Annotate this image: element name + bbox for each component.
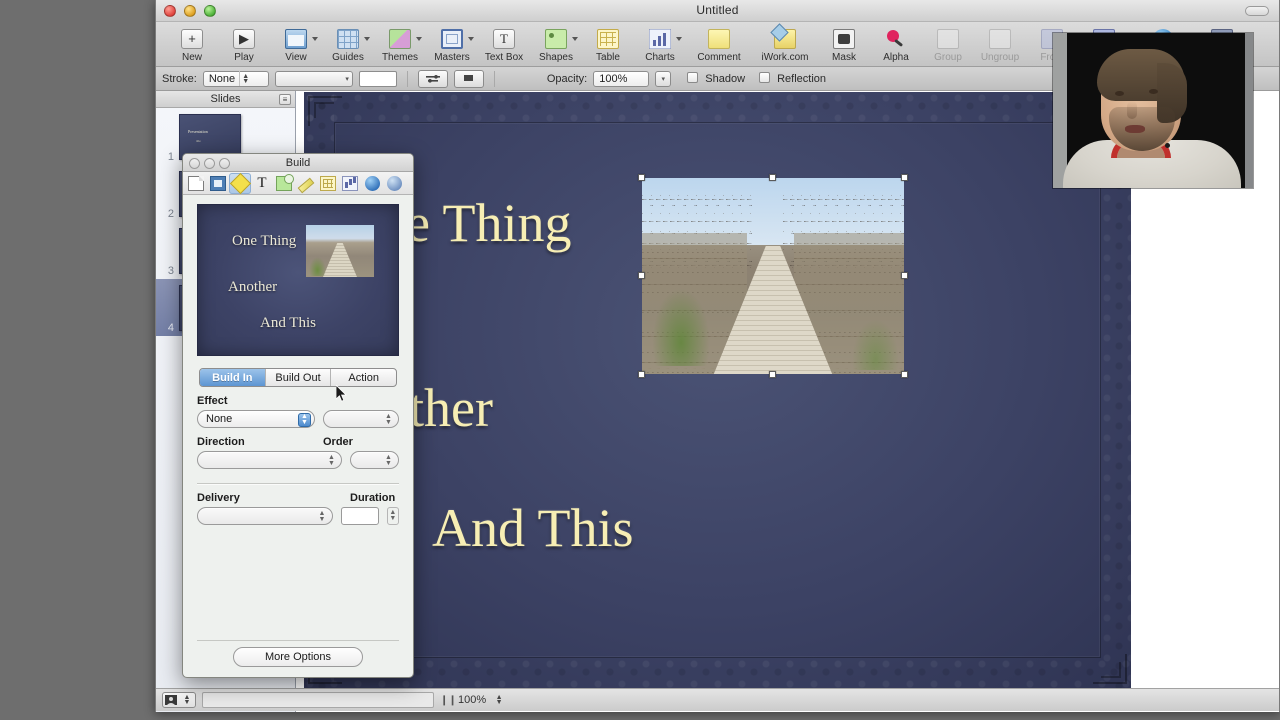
resize-handle-nw[interactable] bbox=[638, 174, 645, 181]
build-tab-group[interactable]: Build In Build Out Action bbox=[199, 368, 397, 387]
checkbox-icon bbox=[687, 72, 698, 83]
document-inspector-icon[interactable] bbox=[185, 173, 207, 194]
status-bar: ▲▼ ❙❙ 100% ▲▼ bbox=[156, 688, 1279, 711]
webcam-wall-left bbox=[1053, 33, 1067, 188]
metrics-inspector-icon[interactable] bbox=[295, 173, 317, 194]
build-inspector-window[interactable]: Build T One Thing Another And This Build… bbox=[182, 153, 414, 678]
stroke-label: Stroke: bbox=[162, 73, 197, 85]
toolbar-button-mask[interactable]: Mask bbox=[818, 24, 870, 63]
slides-pane-title: Slides bbox=[211, 93, 241, 105]
play-icon: ▶ bbox=[233, 26, 255, 51]
zoom-control[interactable]: 100% ▲▼ bbox=[458, 693, 505, 708]
reflection-label: Reflection bbox=[777, 73, 826, 85]
group-icon bbox=[937, 26, 959, 51]
toolbar-label: Ungroup bbox=[981, 52, 1019, 63]
toolbar-label: Text Box bbox=[485, 52, 523, 63]
presenter-view-icon[interactable]: ▲▼ bbox=[162, 692, 196, 708]
toolbar-button-play[interactable]: ▶ Play bbox=[218, 24, 270, 63]
toolbar-button-ungroup: Ungroup bbox=[974, 24, 1026, 63]
build-preview-line-2: Another bbox=[228, 279, 277, 296]
webcam-lapel-mic bbox=[1165, 143, 1170, 148]
webcam-eye-right bbox=[1149, 89, 1158, 94]
fullscreen-toggle-icon[interactable] bbox=[1245, 6, 1269, 16]
resize-handle-ne[interactable] bbox=[901, 174, 908, 181]
toolbar-label: Table bbox=[596, 52, 620, 63]
toolbar-button-shapes[interactable]: Shapes bbox=[530, 24, 582, 63]
shapes-icon bbox=[545, 26, 567, 51]
slide-number: 1 bbox=[160, 151, 174, 163]
resize-handle-se[interactable] bbox=[901, 371, 908, 378]
toolbar-button-view[interactable]: View bbox=[270, 24, 322, 63]
toolbar-label: Mask bbox=[832, 52, 856, 63]
ungroup-icon bbox=[989, 26, 1011, 51]
duration-input[interactable] bbox=[341, 507, 379, 525]
pause-icon[interactable]: ❙❙ bbox=[440, 695, 452, 706]
toolbar-button-alpha[interactable]: Alpha bbox=[870, 24, 922, 63]
stepper-icon[interactable]: ▲▼ bbox=[316, 510, 329, 524]
toolbar-button-comment[interactable]: Comment bbox=[686, 24, 752, 63]
duration-label: Duration bbox=[350, 492, 395, 504]
toolbar-label: New bbox=[182, 52, 202, 63]
build-preview-line-3: And This bbox=[260, 315, 316, 332]
slide-border-ornament-top bbox=[304, 92, 1131, 122]
window-title: Untitled bbox=[156, 3, 1279, 17]
alpha-icon bbox=[885, 26, 907, 51]
opacity-input[interactable]: 100% bbox=[593, 71, 649, 87]
stepper-icon[interactable]: ▲▼ bbox=[382, 413, 395, 427]
photo-greenery-right bbox=[852, 319, 899, 370]
text-inspector-icon[interactable]: T bbox=[251, 173, 273, 194]
divider bbox=[407, 71, 408, 87]
toolbar-button-iwork-com[interactable]: iWork.com bbox=[752, 24, 818, 63]
toolbar-button-masters[interactable]: Masters bbox=[426, 24, 478, 63]
toolbar-label: Play bbox=[234, 52, 253, 63]
boardwalk-photo[interactable] bbox=[642, 178, 904, 374]
toolbar-label: View bbox=[285, 52, 307, 63]
presenter-notes-field[interactable] bbox=[202, 692, 434, 708]
delivery-select[interactable]: ▲▼ bbox=[197, 507, 333, 525]
presenter-webcam-overlay bbox=[1053, 33, 1253, 188]
effect-value: None bbox=[206, 413, 232, 425]
slide-surface[interactable]: One Thing Another And This bbox=[304, 92, 1131, 688]
direction-select[interactable]: ▲▼ bbox=[197, 451, 342, 469]
slide-text-line-3[interactable]: And This bbox=[432, 497, 634, 559]
chevron-down-icon[interactable] bbox=[312, 37, 318, 41]
tab-action[interactable]: Action bbox=[331, 369, 396, 386]
build-preview-line-1: One Thing bbox=[232, 233, 296, 250]
corner-ornament-inner-bottom-right bbox=[1101, 662, 1121, 678]
stroke-color-select[interactable]: ▾ bbox=[275, 71, 353, 87]
opacity-label: Opacity: bbox=[547, 73, 587, 85]
build-inspector-body: Effect None ▲▼ ▲▼ Direction Order ▲▼ bbox=[183, 387, 413, 469]
build-delivery-section: Delivery Duration ▲▼ ▲▼ bbox=[183, 484, 413, 525]
toolbar-button-themes[interactable]: Themes bbox=[374, 24, 426, 63]
resize-handle-n[interactable] bbox=[769, 174, 776, 181]
tab-build-out[interactable]: Build Out bbox=[266, 369, 332, 386]
chart-inspector-icon[interactable] bbox=[339, 173, 361, 194]
hyperlink-inspector-icon[interactable] bbox=[383, 173, 405, 194]
build-preview-canvas[interactable]: One Thing Another And This bbox=[197, 204, 399, 356]
slide-thumbnail-title: Presentation bbox=[188, 129, 208, 134]
graphic-inspector-icon[interactable] bbox=[273, 173, 295, 194]
guides-icon bbox=[337, 26, 359, 51]
screen-root: Untitled + New ▶ Play View Guides bbox=[0, 0, 1280, 720]
view-icon bbox=[285, 26, 307, 51]
stepper-icon[interactable]: ▲▼ bbox=[298, 413, 311, 427]
toolbar-label: Themes bbox=[382, 52, 418, 63]
table-inspector-icon[interactable] bbox=[317, 173, 339, 194]
more-options-button[interactable]: More Options bbox=[233, 647, 363, 667]
toolbar-label: Guides bbox=[332, 52, 364, 63]
stepper-icon[interactable]: ▲▼ bbox=[239, 71, 251, 86]
tab-build-in[interactable]: Build In bbox=[200, 369, 266, 386]
build-inspector-titlebar[interactable]: Build bbox=[183, 154, 413, 172]
stepper-icon[interactable]: ▲▼ bbox=[493, 693, 505, 708]
inspector-icon-toolbar: T bbox=[183, 172, 413, 195]
build-inspector-title: Build bbox=[286, 157, 310, 169]
resize-handle-sw[interactable] bbox=[638, 371, 645, 378]
checkbox-icon bbox=[759, 72, 770, 83]
order-label: Order bbox=[323, 436, 353, 448]
table-icon bbox=[597, 26, 619, 51]
build-inspector-icon[interactable] bbox=[229, 173, 251, 194]
shadow-checkbox[interactable]: Shadow bbox=[687, 72, 745, 85]
minimize-button[interactable] bbox=[204, 158, 215, 169]
zoom-button[interactable] bbox=[219, 158, 230, 169]
toolbar-button-table[interactable]: Table bbox=[582, 24, 634, 63]
iwork-com-icon bbox=[774, 26, 796, 51]
slides-pane-menu-icon[interactable]: ≡ bbox=[279, 94, 291, 105]
toolbar-label: Charts bbox=[645, 52, 674, 63]
webcam-wall-right bbox=[1245, 33, 1253, 188]
divider bbox=[494, 71, 495, 87]
zoom-value: 100% bbox=[458, 694, 486, 706]
effect-secondary-select[interactable]: ▲▼ bbox=[323, 410, 399, 428]
window-titlebar[interactable]: Untitled bbox=[156, 0, 1279, 22]
resize-handle-w[interactable] bbox=[638, 272, 645, 279]
slide-number: 3 bbox=[160, 265, 174, 277]
corner-ornament-inner-top-left bbox=[314, 102, 334, 118]
more-options-row: More Options bbox=[183, 647, 413, 667]
build-preview-boardwalk bbox=[323, 243, 357, 277]
slide-thumbnail-subtitle: title bbox=[196, 139, 201, 143]
toolbar-label: Comment bbox=[697, 52, 740, 63]
slide-number: 4 bbox=[160, 322, 174, 334]
chevron-down-icon[interactable] bbox=[572, 37, 578, 41]
mask-icon bbox=[833, 26, 855, 51]
delivery-label: Delivery bbox=[197, 492, 342, 504]
selected-image-object[interactable] bbox=[642, 178, 904, 374]
slide-border-ornament-bottom bbox=[304, 658, 1131, 688]
resize-handle-s[interactable] bbox=[769, 371, 776, 378]
toolbar-label: Group bbox=[934, 52, 962, 63]
plus-icon: + bbox=[181, 26, 203, 51]
text-box-icon: T bbox=[493, 26, 515, 51]
reflection-checkbox[interactable]: Reflection bbox=[759, 72, 826, 85]
slide-inspector-icon[interactable] bbox=[207, 173, 229, 194]
toolbar-label: Shapes bbox=[539, 52, 573, 63]
direction-label: Direction bbox=[197, 436, 315, 448]
stepper-icon[interactable]: ▲▼ bbox=[325, 454, 338, 468]
close-button[interactable] bbox=[189, 158, 200, 169]
build-preview-photo bbox=[306, 225, 374, 277]
shadow-label: Shadow bbox=[705, 73, 745, 85]
divider bbox=[197, 640, 399, 641]
stroke-style-value: None bbox=[209, 73, 235, 85]
toolbar-button-group: Group bbox=[922, 24, 974, 63]
stroke-width-field[interactable] bbox=[359, 71, 397, 87]
resize-handle-e[interactable] bbox=[901, 272, 908, 279]
toolbar-button-text-box[interactable]: T Text Box bbox=[478, 24, 530, 63]
themes-icon bbox=[389, 26, 411, 51]
slides-pane-header: Slides ≡ bbox=[156, 91, 295, 108]
effect-select[interactable]: None ▲▼ bbox=[197, 410, 315, 428]
chevron-down-icon[interactable] bbox=[676, 37, 682, 41]
charts-icon bbox=[649, 26, 671, 51]
duration-stepper-icon[interactable]: ▲▼ bbox=[387, 507, 399, 525]
masters-icon bbox=[441, 26, 463, 51]
stroke-style-select[interactable]: None ▲▼ bbox=[203, 71, 269, 87]
webcam-mouth bbox=[1125, 125, 1145, 133]
build-preview-greenery bbox=[309, 257, 327, 276]
order-select[interactable]: ▲▼ bbox=[350, 451, 399, 469]
toolbar-button-new[interactable]: + New bbox=[166, 24, 218, 63]
comment-icon bbox=[708, 26, 730, 51]
webcam-eye-left bbox=[1115, 91, 1124, 96]
align-button[interactable] bbox=[418, 70, 448, 88]
opacity-value: 100% bbox=[599, 73, 627, 85]
quicktime-inspector-icon[interactable] bbox=[361, 173, 383, 194]
slide-number: 2 bbox=[160, 208, 174, 220]
chevron-down-icon[interactable] bbox=[364, 37, 370, 41]
chevron-down-icon[interactable] bbox=[468, 37, 474, 41]
toolbar-label: iWork.com bbox=[761, 52, 808, 63]
photo-greenery-left bbox=[652, 288, 710, 366]
toolbar-button-charts[interactable]: Charts bbox=[634, 24, 686, 63]
stepper-icon[interactable]: ▲▼ bbox=[382, 454, 395, 468]
toolbar-button-guides[interactable]: Guides bbox=[322, 24, 374, 63]
toolbar-label: Alpha bbox=[883, 52, 909, 63]
effect-label: Effect bbox=[197, 395, 399, 407]
toolbar-label: Masters bbox=[434, 52, 470, 63]
stepper-icon[interactable]: ▲▼ bbox=[181, 693, 193, 708]
chevron-down-icon[interactable] bbox=[416, 37, 422, 41]
shadow-button[interactable] bbox=[454, 70, 484, 88]
opacity-menu-button[interactable]: ▾ bbox=[655, 71, 671, 87]
